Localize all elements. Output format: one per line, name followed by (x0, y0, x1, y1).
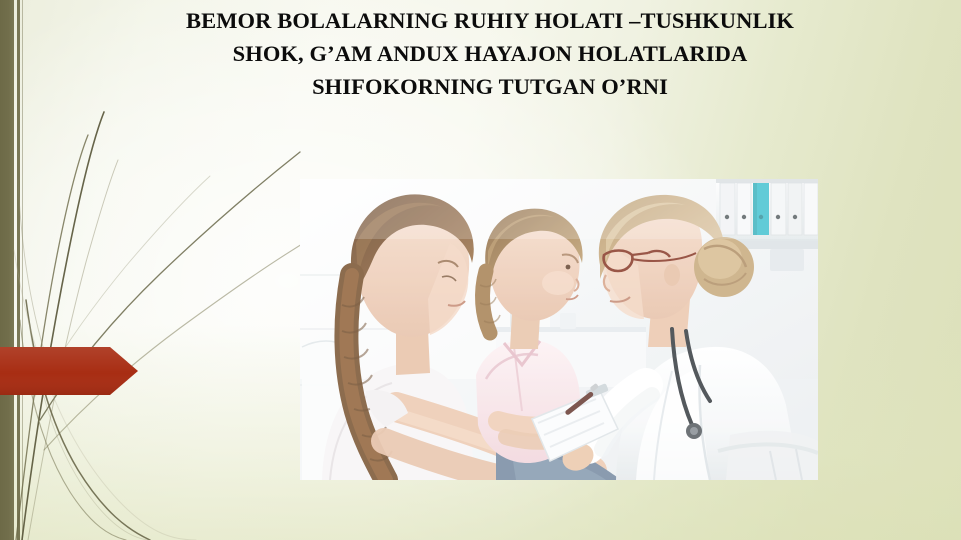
slide-title-line-3: SHIFOKORNING TUTGAN O’RNI (120, 70, 860, 103)
presentation-slide: BEMOR BOLALARNING RUHIY HOLATI –TUSHKUNL… (0, 0, 961, 540)
clinic-consultation-photo (300, 179, 818, 480)
olive-vertical-stripe-hairline (22, 0, 23, 540)
slide-title-line-2: SHOK, G’AM ANDUX HAYAJON HOLATLARIDA (120, 37, 860, 70)
photo-illustration (300, 179, 818, 480)
slide-title: BEMOR BOLALARNING RUHIY HOLATI –TUSHKUNL… (120, 4, 860, 103)
red-arrow-banner (0, 343, 138, 399)
olive-vertical-stripe (0, 0, 14, 540)
olive-vertical-stripe-thin (17, 0, 20, 540)
slide-title-line-1: BEMOR BOLALARNING RUHIY HOLATI –TUSHKUNL… (120, 4, 860, 37)
